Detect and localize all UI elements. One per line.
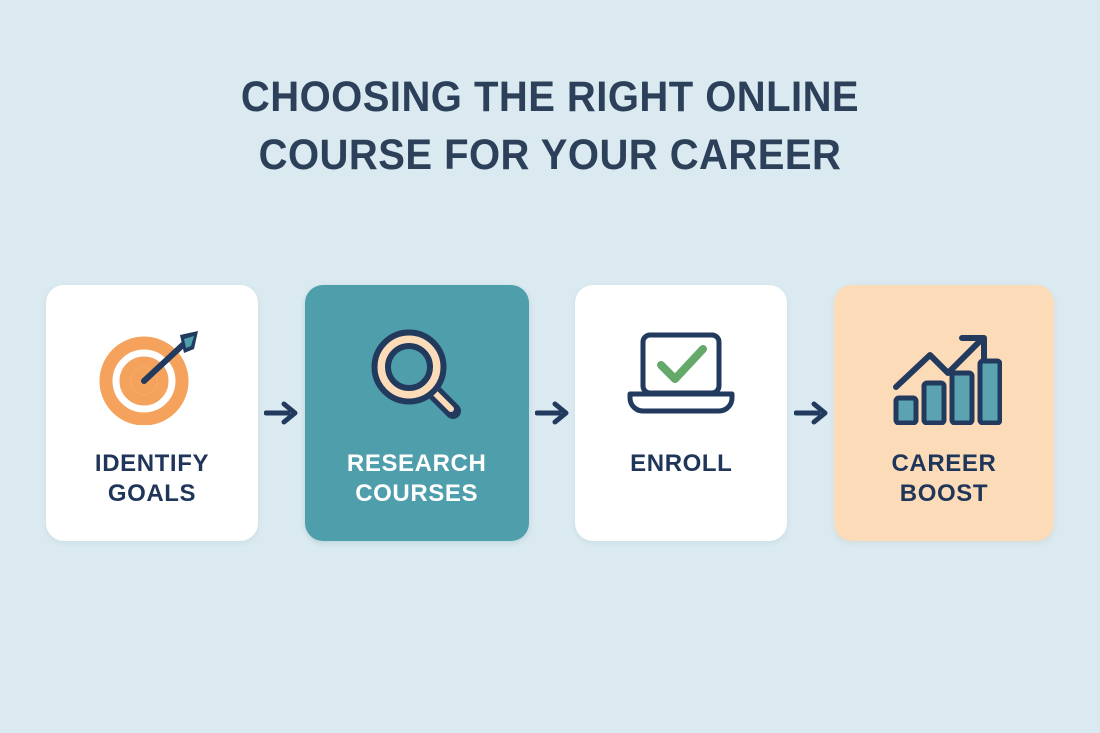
- step-card-enroll[interactable]: ENROLL: [575, 285, 787, 541]
- step-card-identify-goals[interactable]: IDENTIFY GOALS: [46, 285, 258, 541]
- process-steps-row: IDENTIFY GOALS: [46, 285, 1054, 541]
- growth-bar-chart-icon: [886, 321, 1002, 429]
- step-card-career-boost[interactable]: CAREER BOOST: [834, 285, 1054, 541]
- arrow-right-icon: [535, 396, 569, 430]
- magnifying-glass-icon: [359, 321, 475, 429]
- step-label-research-courses: RESEARCH COURSES: [347, 449, 486, 509]
- laptop-check-icon: [623, 321, 739, 429]
- target-arrow-icon: [94, 321, 210, 429]
- page-title: CHOOSING THE RIGHT ONLINE COURSE FOR YOU…: [0, 68, 1100, 184]
- page-title-line-1: CHOOSING THE RIGHT ONLINE: [39, 68, 1062, 126]
- infographic-root: CHOOSING THE RIGHT ONLINE COURSE FOR YOU…: [0, 0, 1100, 733]
- step-label-career-boost: CAREER BOOST: [891, 449, 996, 509]
- arrow-right-icon: [794, 396, 828, 430]
- arrow-right-icon: [264, 396, 298, 430]
- step-label-enroll: ENROLL: [630, 449, 732, 479]
- step-label-identify-goals: IDENTIFY GOALS: [95, 449, 209, 509]
- page-title-line-2: COURSE FOR YOUR CAREER: [39, 126, 1062, 184]
- step-card-research-courses[interactable]: RESEARCH COURSES: [305, 285, 529, 541]
